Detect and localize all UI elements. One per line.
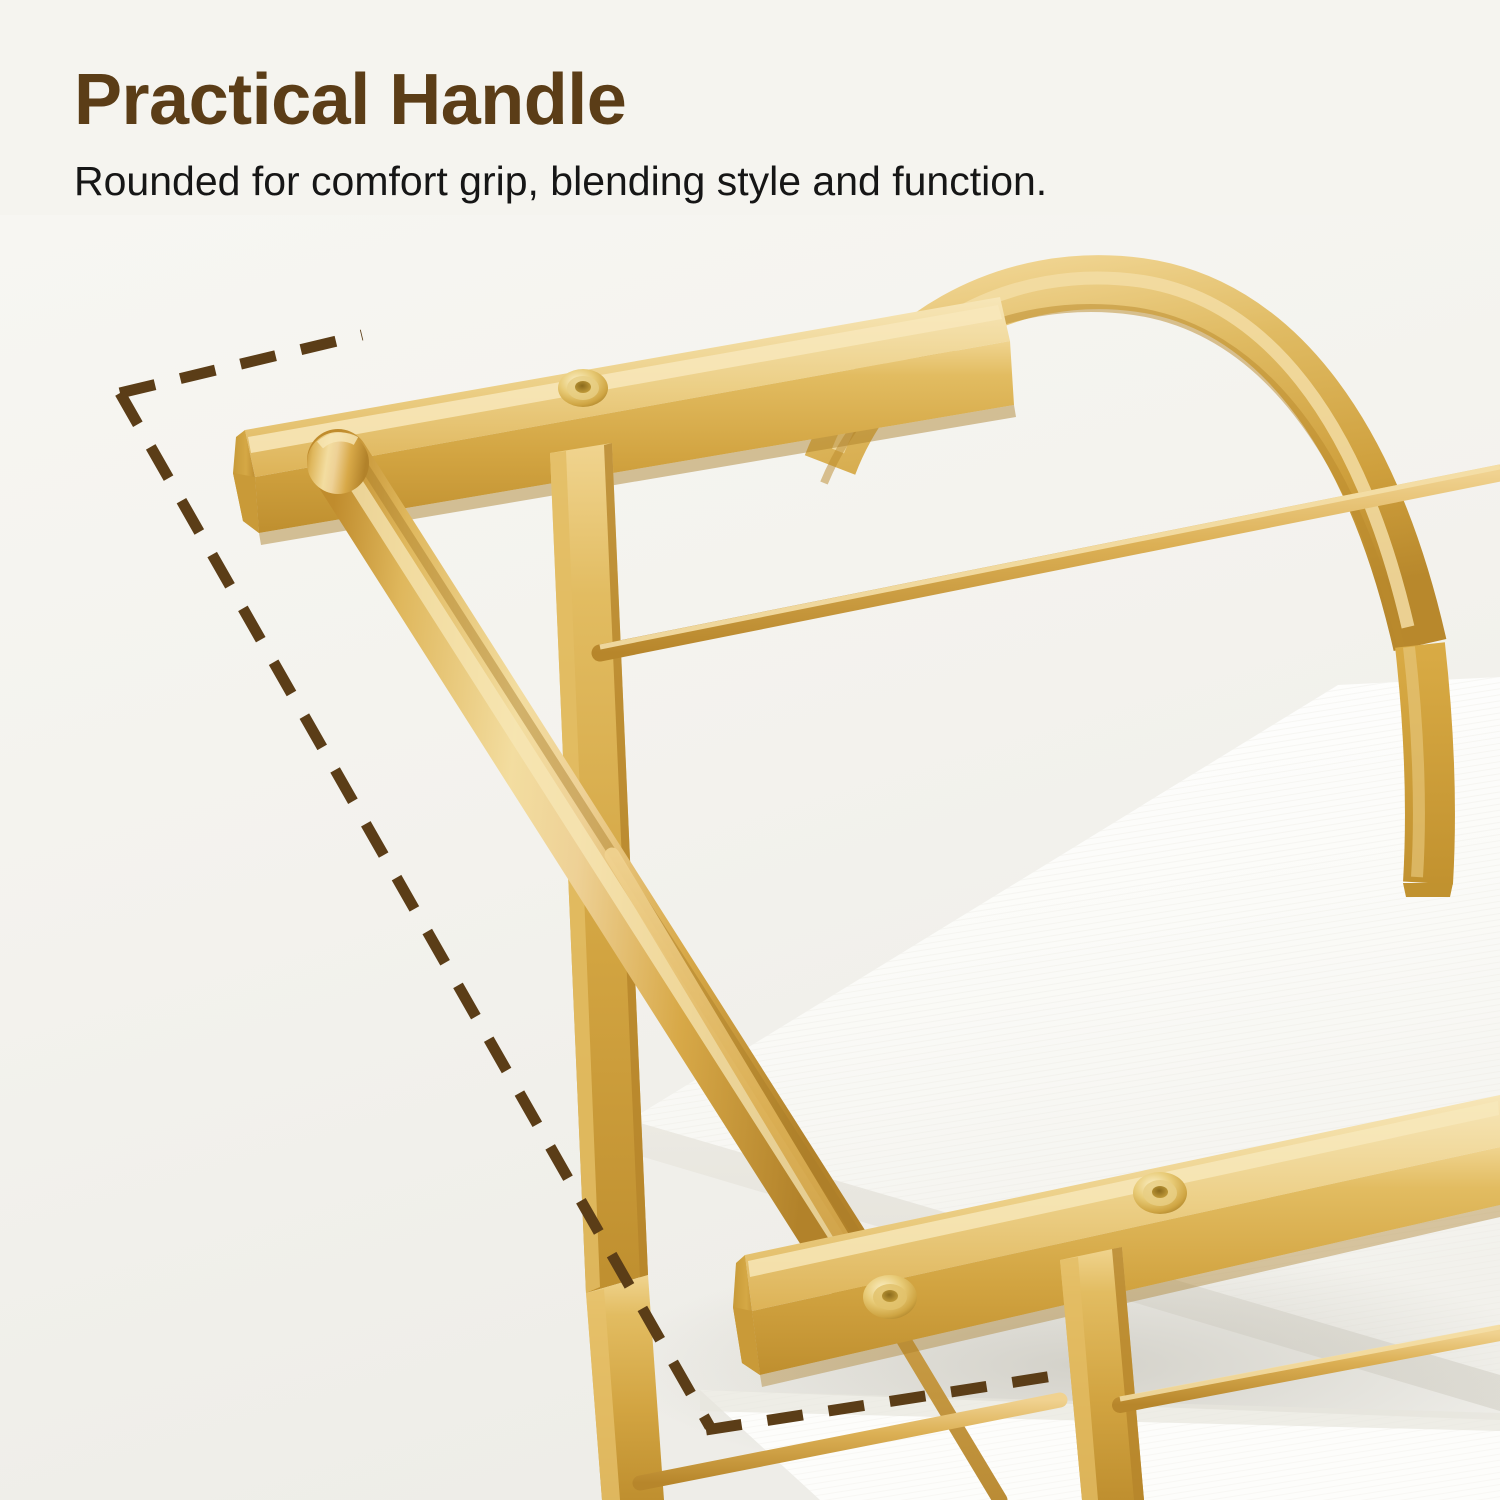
page-title: Practical Handle (74, 64, 1434, 137)
product-illustration (0, 215, 1500, 1500)
page-subtitle: Rounded for comfort grip, blending style… (74, 159, 1434, 204)
product-photo (0, 215, 1500, 1500)
screw-top-bar (558, 369, 608, 407)
headline-block: Practical Handle Rounded for comfort gri… (74, 64, 1434, 205)
screw-lower-bar-right (1133, 1172, 1187, 1214)
screw-lower-bar-left (863, 1275, 917, 1319)
product-feature-card: Practical Handle Rounded for comfort gri… (0, 0, 1500, 1500)
